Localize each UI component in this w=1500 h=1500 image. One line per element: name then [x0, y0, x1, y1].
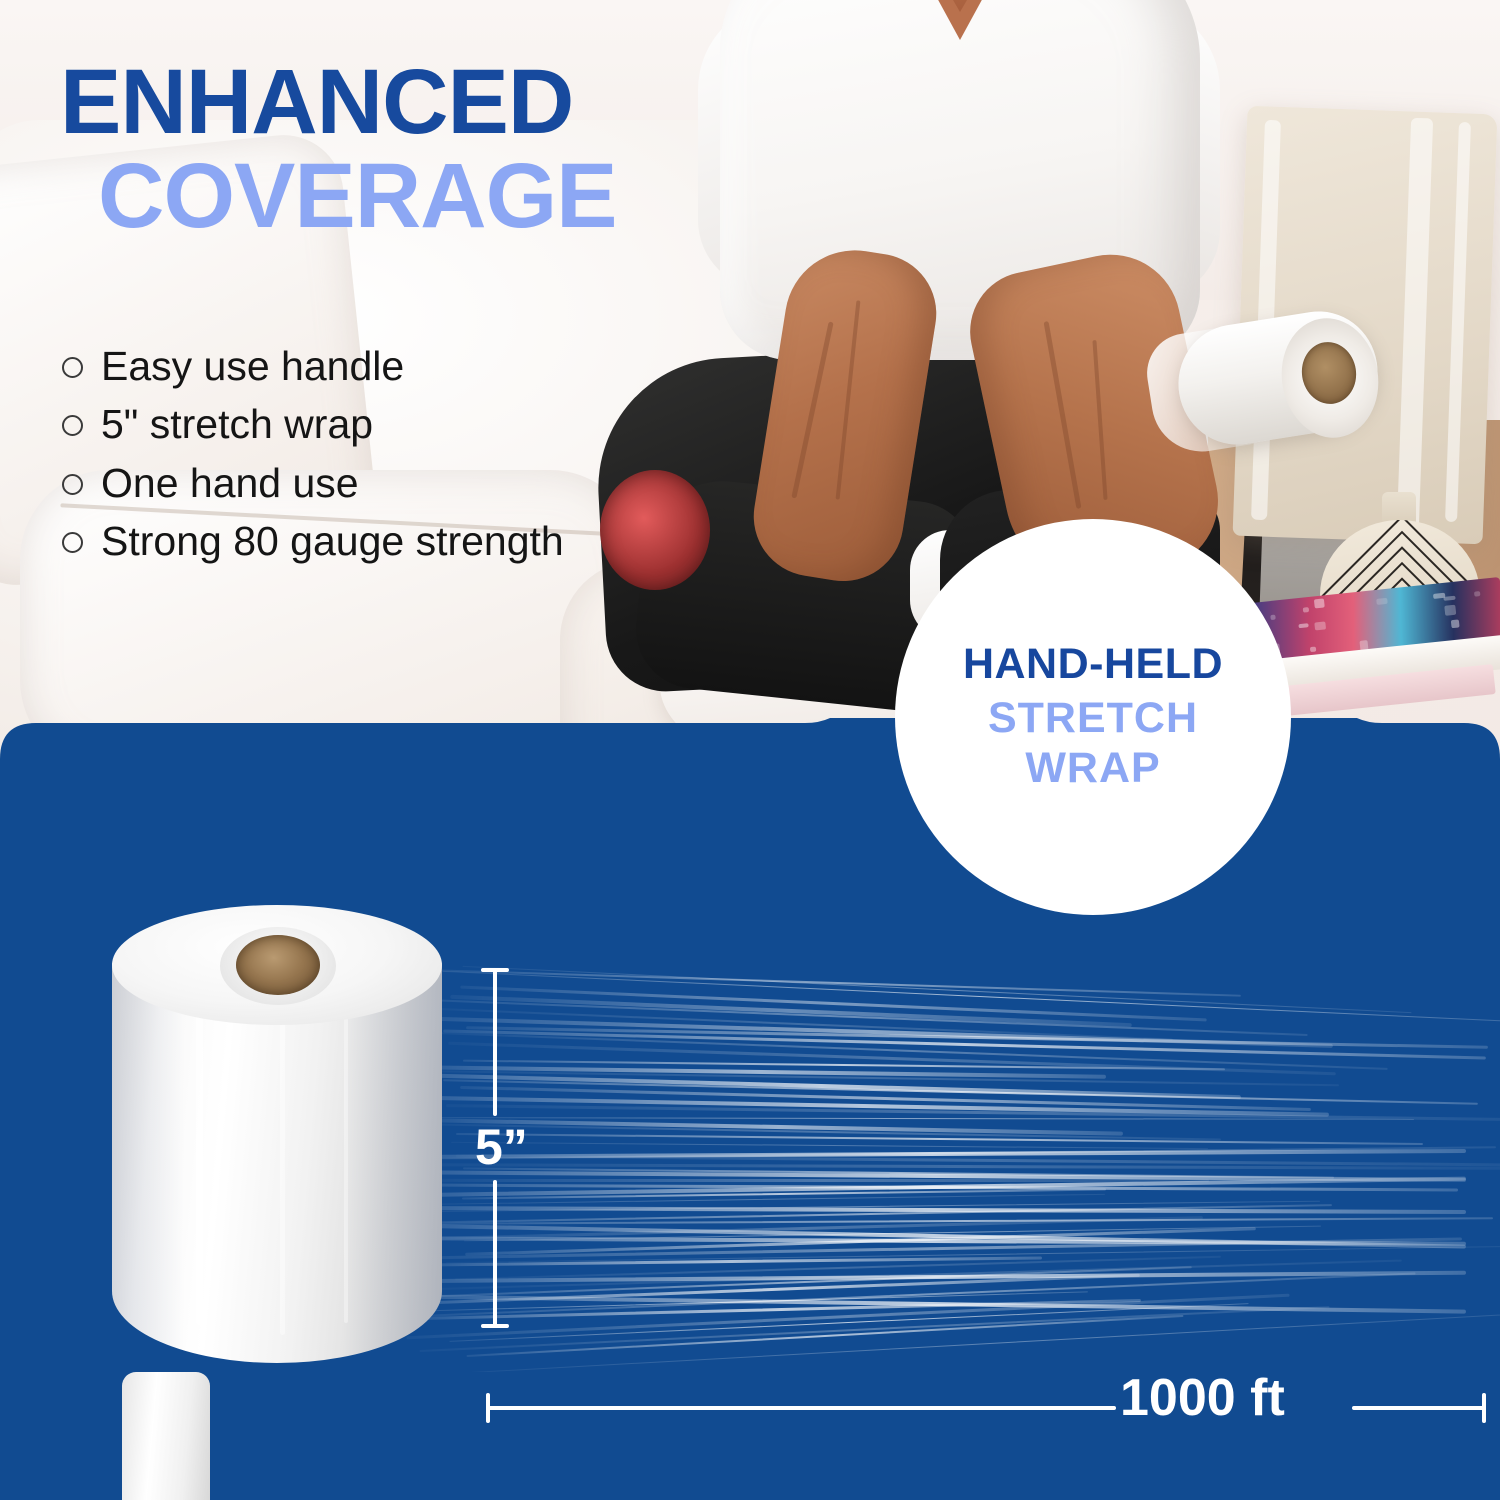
book-cover-highlight — [1443, 596, 1456, 601]
length-dimension — [486, 1406, 1486, 1410]
product-infographic: ENHANCED COVERAGE Easy use handle 5" str… — [0, 0, 1500, 1500]
list-item: 5" stretch wrap — [62, 402, 762, 446]
dimension-line-left — [488, 1406, 1116, 1410]
stretched-film-sheet — [400, 952, 1500, 1372]
film-strand — [466, 1315, 1183, 1357]
book-cover-highlight — [1314, 598, 1326, 608]
bullet-circle-icon — [62, 532, 83, 553]
headline-line-1: ENHANCED — [60, 58, 780, 146]
roll-streak — [196, 995, 203, 1325]
width-dimension-label: 5” — [475, 1118, 528, 1176]
list-item: One hand use — [62, 461, 762, 505]
bullet-circle-icon — [62, 474, 83, 495]
book-cover-highlight — [1299, 623, 1309, 628]
dimension-line-upper — [493, 970, 497, 1116]
badge-line-3: WRAP — [1025, 747, 1160, 791]
list-item-label: Easy use handle — [101, 344, 404, 388]
product-stretch-wrap-roll — [112, 905, 442, 1375]
badge-line-1: HAND-HELD — [963, 643, 1223, 687]
book-cover-highlight — [1309, 646, 1316, 652]
roll-cardboard-core — [236, 935, 320, 995]
feature-list: Easy use handle 5" stretch wrap One hand… — [62, 344, 762, 577]
list-item-label: 5" stretch wrap — [101, 402, 373, 446]
book-cover-highlight — [1303, 608, 1310, 613]
badge-line-2: STRETCH — [988, 697, 1198, 741]
roll-streak — [344, 993, 348, 1323]
book-cover-highlight — [1376, 598, 1387, 606]
list-item: Strong 80 gauge strength — [62, 519, 762, 563]
dimension-line-right — [1352, 1406, 1484, 1410]
book-cover-highlight — [1314, 621, 1326, 631]
bullet-circle-icon — [62, 415, 83, 436]
dimension-tick-bottom — [481, 1324, 509, 1328]
list-item: Easy use handle — [62, 344, 762, 388]
length-dimension-label: 1000 ft — [1120, 1368, 1285, 1428]
bullet-circle-icon — [62, 357, 83, 378]
roll-streak — [280, 985, 285, 1335]
headline-line-2: COVERAGE — [98, 152, 780, 240]
hand-held-badge-text: HAND-HELD STRETCH WRAP — [895, 519, 1291, 915]
dimension-tick-right — [1482, 1393, 1486, 1423]
book-cover-highlight — [1474, 591, 1480, 597]
book-cover-highlight — [1445, 605, 1457, 616]
book-cover-highlight — [1451, 619, 1459, 628]
list-item-label: One hand use — [101, 461, 359, 505]
list-item-label: Strong 80 gauge strength — [101, 519, 564, 563]
headline-block: ENHANCED COVERAGE — [60, 58, 780, 241]
film-strand — [451, 1142, 1208, 1150]
roll-handle — [122, 1372, 210, 1500]
dimension-line-lower — [493, 1180, 497, 1326]
